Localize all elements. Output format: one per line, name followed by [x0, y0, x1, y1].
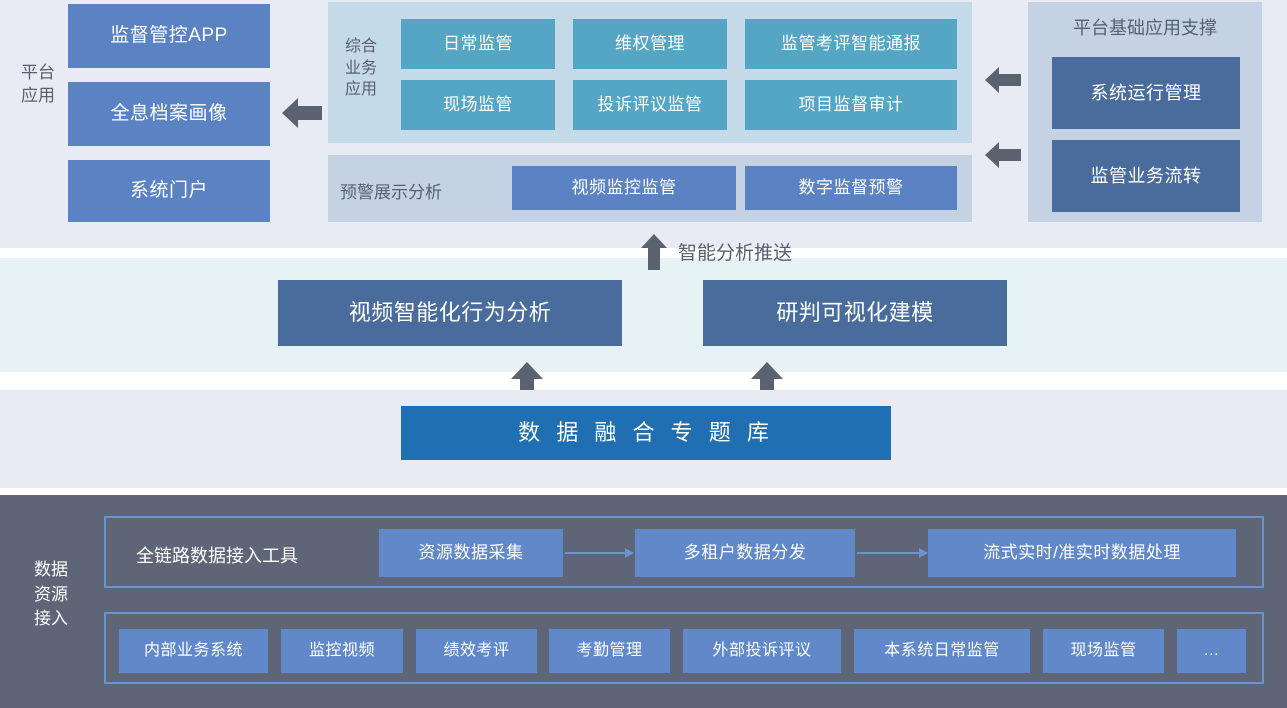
analysis-item-visual-modeling[interactable]: 研判可视化建模: [703, 280, 1007, 346]
data-source-attendance-management[interactable]: 考勤管理: [549, 629, 670, 673]
platform-app-item-system-portal[interactable]: 系统门户: [68, 160, 270, 222]
pipeline-stage-streaming-processing[interactable]: 流式实时/准实时数据处理: [928, 529, 1236, 577]
data-source-surveillance-video[interactable]: 监控视频: [281, 629, 403, 673]
business-item-assessment-notification[interactable]: 监管考评智能通报: [745, 19, 957, 69]
pipeline-stage-multitenant-distribution[interactable]: 多租户数据分发: [635, 529, 855, 577]
support-item-system-operation-management[interactable]: 系统运行管理: [1052, 57, 1240, 129]
support-item-supervision-workflow[interactable]: 监管业务流转: [1052, 140, 1240, 212]
data-source-onsite-supervision[interactable]: 现场监管: [1043, 629, 1164, 673]
platform-application-label: 平台 应用: [14, 62, 62, 108]
pipeline-connector-arrow-icon: [565, 552, 633, 554]
data-source-more-ellipsis[interactable]: …: [1177, 629, 1246, 673]
business-item-project-supervision-audit[interactable]: 项目监督审计: [745, 80, 957, 130]
business-item-onsite-supervision[interactable]: 现场监管: [401, 80, 555, 130]
pipeline-stage-resource-collection[interactable]: 资源数据采集: [379, 529, 563, 577]
arrow-left-icon: [985, 139, 1021, 171]
data-source-system-daily-supervision[interactable]: 本系统日常监管: [854, 629, 1030, 673]
data-source-access-label: 数据 资源 接入: [22, 558, 80, 632]
business-item-complaint-review-supervision[interactable]: 投诉评议监管: [573, 80, 727, 130]
arrow-left-icon: [282, 95, 322, 131]
platform-app-item-holographic-archive[interactable]: 全息档案画像: [68, 82, 270, 146]
comprehensive-business-label: 综合 业务 应用: [335, 36, 387, 101]
data-fusion-thematic-library[interactable]: 数 据 融 合 专 题 库: [401, 406, 891, 460]
platform-app-item-supervision-app[interactable]: 监督管控APP: [68, 4, 270, 68]
warning-item-video-monitoring[interactable]: 视频监控监管: [512, 166, 736, 210]
intelligent-analysis-push-label: 智能分析推送: [678, 238, 792, 265]
business-item-daily-supervision[interactable]: 日常监管: [401, 19, 555, 69]
arrow-left-icon: [985, 64, 1021, 96]
full-link-data-access-tool-label: 全链路数据接入工具: [136, 542, 298, 568]
data-source-internal-business-system[interactable]: 内部业务系统: [119, 629, 268, 673]
pipeline-connector-arrow-icon: [857, 552, 927, 554]
warning-item-digital-supervision-alert[interactable]: 数字监督预警: [745, 166, 957, 210]
layer-band-analysis: [0, 258, 1287, 372]
data-source-external-complaints[interactable]: 外部投诉评议: [683, 629, 841, 673]
platform-support-title: 平台基础应用支撑: [1028, 14, 1262, 40]
arrow-up-icon: [640, 234, 668, 270]
business-item-rights-management[interactable]: 维权管理: [573, 19, 727, 69]
warning-display-label: 预警展示分析: [340, 178, 442, 203]
analysis-item-video-behavior-analysis[interactable]: 视频智能化行为分析: [278, 280, 622, 346]
architecture-diagram: 平台 应用 监督管控APP 全息档案画像 系统门户 综合 业务 应用 日常监管 …: [0, 0, 1287, 708]
data-source-performance-assessment[interactable]: 绩效考评: [416, 629, 537, 673]
